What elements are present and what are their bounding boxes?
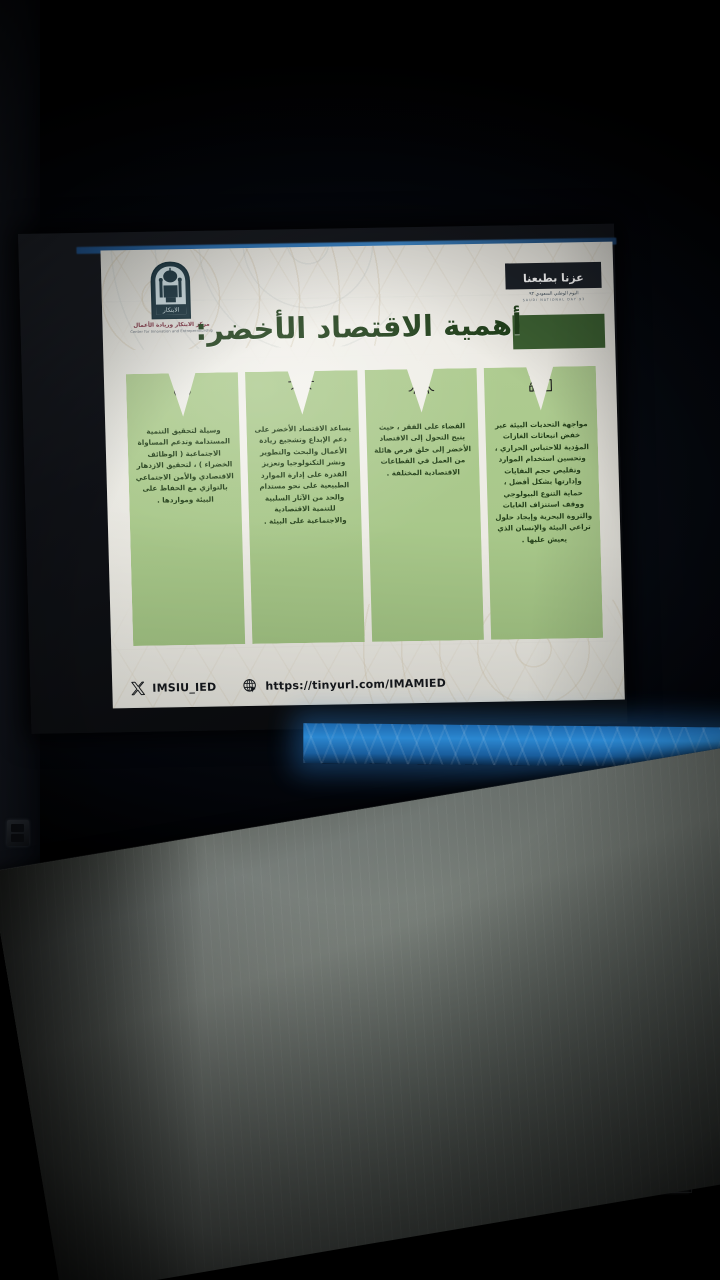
column-environment: مواجهة التحديات البيئة عبر خفض انبعاثات … [484,366,604,640]
mosque-arch-logo-icon: الابتكار [148,261,194,320]
projector-screen: الابتكار مركز الابتكار وريادة الأعمال Ce… [18,224,627,734]
column-innovation: يساعد الاقتصاد الأخضر على دعم الإبداع وت… [245,370,365,644]
link-url-text: https://tinyurl.com/IMAMIED [265,676,446,692]
wall-outlet [7,820,29,846]
column-text: وسيلة لتحقيق التنمية المستدامة وتدعم الم… [134,424,234,506]
column-text: يساعد الاقتصاد الأخضر على دعم الإبداع وت… [253,422,354,527]
social-handle-text: IMSIU_IED [152,680,216,694]
lightbulb-brain-icon [245,368,358,400]
column-poverty: القضاء على الفقر ، حيث يتيح التحول إلى ا… [364,368,484,642]
outlet-socket-lower [11,834,24,842]
social-handle-group[interactable]: IMSIU_IED [130,679,216,695]
outlet-socket-upper [11,824,24,832]
presentation-slide: الابتكار مركز الابتكار وريادة الأعمال Ce… [100,242,624,709]
national-day-logo-box: عزنا بطبعنا [505,262,602,290]
column-sustainability: وسيلة لتحقيق التنمية المستدامة وتدعم الم… [126,372,246,646]
x-twitter-icon [130,680,145,695]
person-gear-chart-icon [483,364,596,396]
content-columns: مواجهة التحديات البيئة عبر خفض انبعاثات … [126,366,603,646]
brand-right: عزنا بطبعنا اليوم الوطني السعودي ٩٣ SAUD… [505,262,602,303]
photo-scene: الابتكار مركز الابتكار وريادة الأعمال Ce… [0,0,720,1280]
conference-table [0,745,720,1280]
column-text: مواجهة التحديات البيئة عبر خفض انبعاثات … [492,418,594,546]
column-text: القضاء على الفقر ، حيث يتيح التحول إلى ا… [373,420,473,479]
people-in-hands-icon [364,366,477,398]
seedling-recycle-icon [126,370,239,402]
globe-cursor-icon [242,678,258,694]
national-day-slogan: عزنا بطبعنا [523,271,584,285]
